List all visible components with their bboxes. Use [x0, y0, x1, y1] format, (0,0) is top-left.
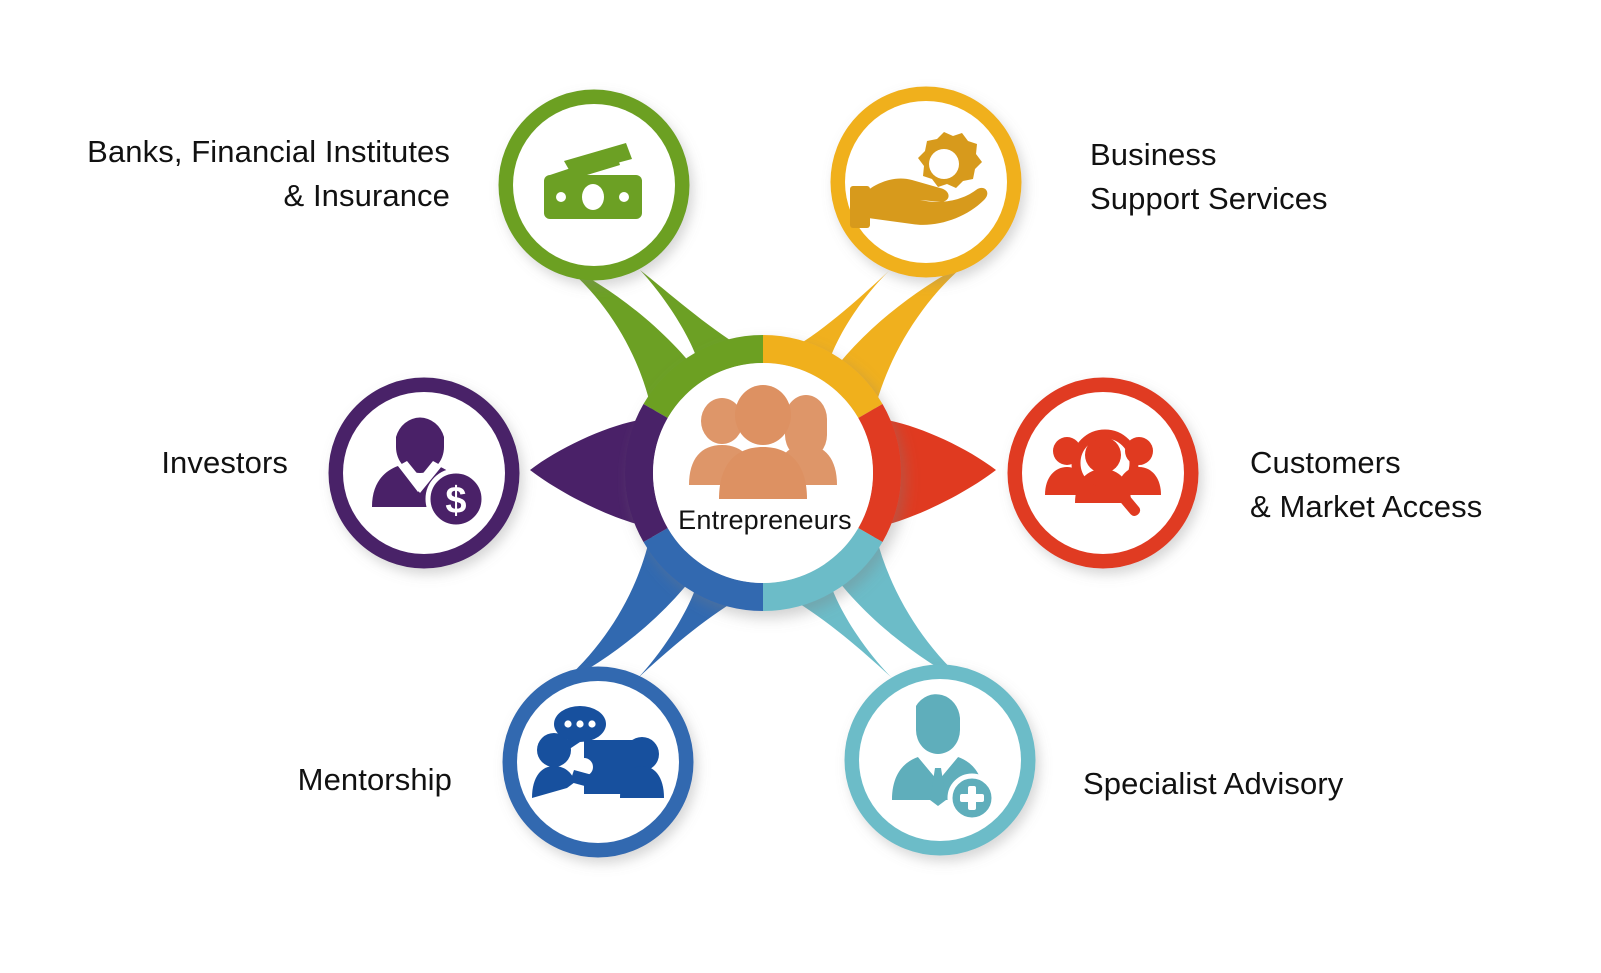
node-label-mentorship: Mentorship [70, 758, 452, 802]
svg-text:$: $ [445, 480, 466, 522]
node-label-investors: Investors [30, 441, 288, 485]
diagram-canvas: $ Entrepreneurs Banks, Financial Institu… [0, 0, 1601, 973]
hub-label: Entrepreneurs [620, 505, 910, 536]
node-label-business-support: Business Support Services [1090, 133, 1510, 221]
node-ring-business-support[interactable] [838, 94, 1014, 270]
node-label-specialist-advisory: Specialist Advisory [1083, 762, 1503, 806]
node-label-banks: Banks, Financial Institutes & Insurance [30, 130, 450, 218]
node-label-customers: Customers & Market Access [1250, 441, 1590, 529]
